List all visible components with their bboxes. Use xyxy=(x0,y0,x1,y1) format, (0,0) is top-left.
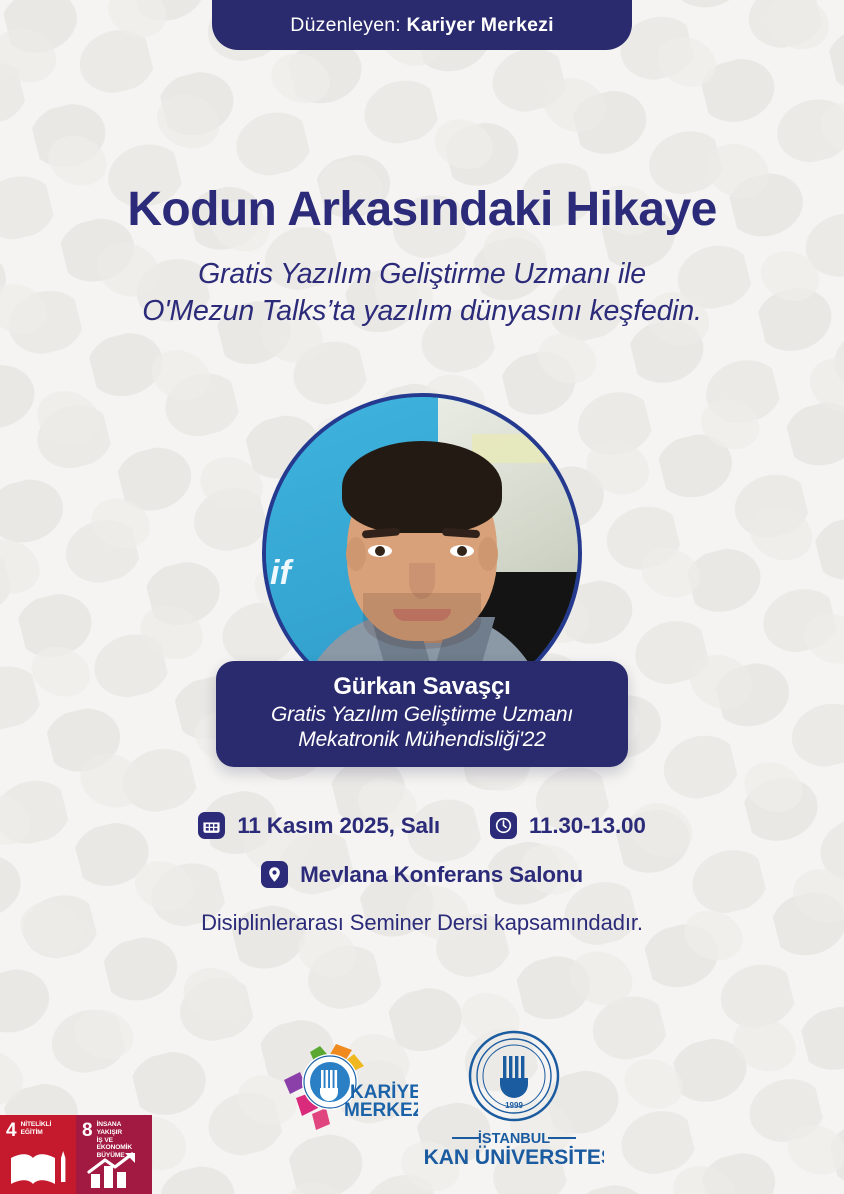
subtitle-line-2: O'Mezun Talks’ta yazılım dünyasını keşfe… xyxy=(0,293,844,330)
bar-chart-arrow-icon xyxy=(85,1152,143,1190)
okan-seal: 1999 xyxy=(470,1032,558,1120)
okan-logo-line1: İSTANBUL xyxy=(478,1130,550,1147)
portrait-backdrop-text: if xyxy=(270,557,291,589)
speaker-info-card: Gürkan Savaşçı Gratis Yazılım Geliştirme… xyxy=(216,661,628,767)
time-item: 11.30-13.00 xyxy=(490,812,646,839)
portrait-eye-right xyxy=(450,545,474,557)
portrait-pupil-right xyxy=(457,546,467,556)
event-details: 11 Kasım 2025, Salı 11.30-13.00 xyxy=(0,812,844,936)
sdg-4-label-line1: NİTELİKLİ xyxy=(21,1121,52,1128)
location-pin-icon xyxy=(261,861,288,888)
okan-seal-columns xyxy=(500,1056,528,1098)
sdg-badges: 4 NİTELİKLİ EĞİTİM 8 İNSANA YAKIŞI xyxy=(0,1115,152,1194)
sdg-4-label: NİTELİKLİ EĞİTİM xyxy=(21,1121,52,1137)
kariyer-logo-line2: MERKEZİ xyxy=(344,1100,418,1121)
speaker-program: Mekatronik Mühendisliği'22 xyxy=(232,727,612,753)
event-venue: Mevlana Konferans Salonu xyxy=(300,862,583,888)
page-title: Kodun Arkasındaki Hikaye xyxy=(0,182,844,237)
sdg-8-label-line1: İNSANA YAKIŞIR xyxy=(97,1121,122,1136)
portrait-eye-left xyxy=(368,545,392,557)
portrait-ear-right xyxy=(478,537,498,571)
sdg-4-art xyxy=(0,1146,76,1190)
event-note: Disiplinlerarası Seminer Dersi kapsamınd… xyxy=(0,910,844,936)
portrait-pupil-left xyxy=(375,546,385,556)
sdg-8-art xyxy=(76,1152,152,1190)
event-poster: Düzenleyen: Kariyer Merkezi Kodun Arkası… xyxy=(0,0,844,1194)
portrait-beard xyxy=(363,593,481,649)
date-item: 11 Kasım 2025, Salı xyxy=(198,812,440,839)
date-time-row: 11 Kasım 2025, Salı 11.30-13.00 xyxy=(0,812,844,839)
venue-row: Mevlana Konferans Salonu xyxy=(0,861,844,888)
sdg-badge-4: 4 NİTELİKLİ EĞİTİM xyxy=(0,1115,76,1194)
okan-seal-year: 1999 xyxy=(505,1101,523,1110)
organizer-text: Düzenleyen: Kariyer Merkezi xyxy=(290,14,553,37)
event-date: 11 Kasım 2025, Salı xyxy=(237,813,440,839)
sdg-4-label-line2: EĞİTİM xyxy=(21,1129,43,1136)
okan-logo-line2: OKAN ÜNİVERSİTESİ xyxy=(424,1146,604,1169)
portrait-mouth xyxy=(393,609,451,621)
sdg-4-head: 4 NİTELİKLİ EĞİTİM xyxy=(6,1121,71,1140)
sdg-badge-8: 8 İNSANA YAKIŞIR İŞ VE EKONOMİK BÜYÜME xyxy=(76,1115,152,1194)
organizer-name: Kariyer Merkezi xyxy=(407,14,554,36)
subtitle-line-1: Gratis Yazılım Geliştirme Uzmanı ile xyxy=(0,256,844,293)
portrait-ear-left xyxy=(346,537,366,571)
speaker-name: Gürkan Savaşçı xyxy=(232,673,612,702)
note-row: Disiplinlerarası Seminer Dersi kapsamınd… xyxy=(0,910,844,936)
organizer-prefix: Düzenleyen: xyxy=(290,14,406,36)
speaker-role: Gratis Yazılım Geliştirme Uzmanı xyxy=(232,702,612,728)
open-book-pencil-icon xyxy=(7,1146,69,1190)
venue-item: Mevlana Konferans Salonu xyxy=(261,861,583,888)
istanbul-okan-universitesi-logo: 1999 İSTANBUL OKAN ÜNİVERSİTESİ xyxy=(424,1028,604,1170)
sdg-4-number: 4 xyxy=(6,1121,17,1140)
portrait-hair xyxy=(342,441,502,533)
sdg-8-label-line2: İŞ VE EKONOMİK xyxy=(97,1137,132,1152)
event-time: 11.30-13.00 xyxy=(529,813,646,839)
calendar-icon xyxy=(198,812,225,839)
organizer-banner: Düzenleyen: Kariyer Merkezi xyxy=(212,0,632,50)
page-subtitle: Gratis Yazılım Geliştirme Uzmanı ile O'M… xyxy=(0,256,844,330)
sdg-8-number: 8 xyxy=(82,1121,93,1140)
kariyer-merkezi-logo: KARİYER MERKEZİ xyxy=(268,1036,418,1136)
clock-icon xyxy=(490,812,517,839)
